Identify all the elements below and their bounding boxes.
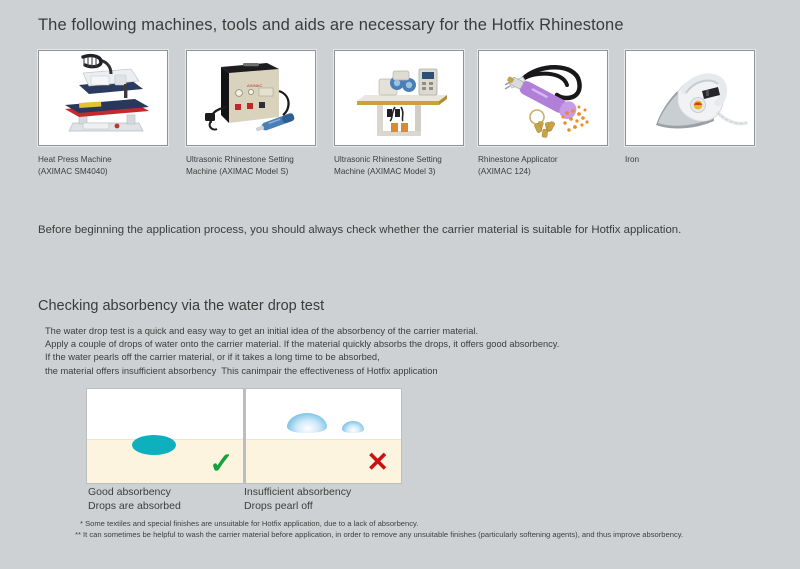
section-heading-absorbency: Checking absorbency via the water drop t… [38, 298, 324, 314]
pearling-water-drop-large [287, 413, 327, 433]
footnotes: * Some textiles and special finishes are… [80, 518, 683, 540]
rhinestone-applicator-photo [478, 50, 608, 146]
good-absorbency-panel: ✓ [87, 389, 243, 483]
gallery-item-caption: Ultrasonic Rhinestone Setting Machine (A… [334, 154, 466, 177]
machine-gallery: Heat Press Machine (AXIMAC SM4040) AXIMA… [38, 50, 768, 150]
pearling-water-drop-small [342, 421, 364, 433]
heat-press-illustration [39, 51, 167, 145]
body-line-1: The water drop test is a quick and easy … [45, 325, 559, 338]
footnote-one: * Some textiles and special finishes are… [80, 518, 683, 529]
document-page: The following machines, tools and aids a… [0, 0, 800, 569]
footnote-two: ** It can sometimes be helpful to wash t… [75, 529, 683, 540]
rhinestone-applicator-illustration [479, 51, 607, 145]
absorbed-water-drop [132, 435, 176, 455]
gallery-item-caption: Ultrasonic Rhinestone Setting Machine (A… [186, 154, 318, 177]
good-absorbency-caption: Good absorbency Drops are absorbed [88, 486, 181, 513]
ultrasonic-model-s-illustration: AXIMAC [187, 51, 315, 145]
gallery-item-rhinestone-applicator[interactable]: Rhinestone Applicator (AXIMAC 124) [478, 50, 610, 177]
ultrasonic-model-3-illustration [335, 51, 463, 145]
absorbency-body-text: The water drop test is a quick and easy … [45, 325, 559, 378]
check-icon: ✓ [209, 450, 233, 479]
gallery-item-caption: Rhinestone Applicator (AXIMAC 124) [478, 154, 610, 177]
heat-press-machine-photo [38, 50, 168, 146]
gallery-item-ultrasonic-model-3[interactable]: Ultrasonic Rhinestone Setting Machine (A… [334, 50, 466, 177]
iron-photo [625, 50, 755, 146]
gallery-item-ultrasonic-model-s[interactable]: AXIMAC [186, 50, 318, 177]
page-title: The following machines, tools and aids a… [38, 16, 624, 35]
body-line-2: Apply a couple of drops of water onto th… [45, 338, 559, 351]
body-line-3: If the water pearls off the carrier mate… [45, 351, 559, 364]
carrier-material-note: Before beginning the application process… [38, 224, 681, 236]
body-line-4: the material offers insufficient absorbe… [45, 365, 559, 378]
iron-illustration [626, 51, 754, 145]
insufficient-absorbency-panel: ✕ [246, 389, 402, 483]
ultrasonic-setting-machine-model-s-photo: AXIMAC [186, 50, 316, 146]
water-drop-test-figure: ✓ ✕ [86, 388, 402, 484]
gallery-item-caption: Iron [625, 154, 757, 166]
gallery-item-iron[interactable]: Iron [625, 50, 757, 166]
insufficient-absorbency-caption: Insufficient absorbency Drops pearl off [244, 486, 351, 513]
gallery-item-heat-press[interactable]: Heat Press Machine (AXIMAC SM4040) [38, 50, 170, 177]
svg-text:AXIMAC: AXIMAC [247, 83, 262, 88]
cross-icon: ✕ [366, 449, 389, 476]
gallery-item-caption: Heat Press Machine (AXIMAC SM4040) [38, 154, 170, 177]
ultrasonic-setting-machine-model-3-photo [334, 50, 464, 146]
